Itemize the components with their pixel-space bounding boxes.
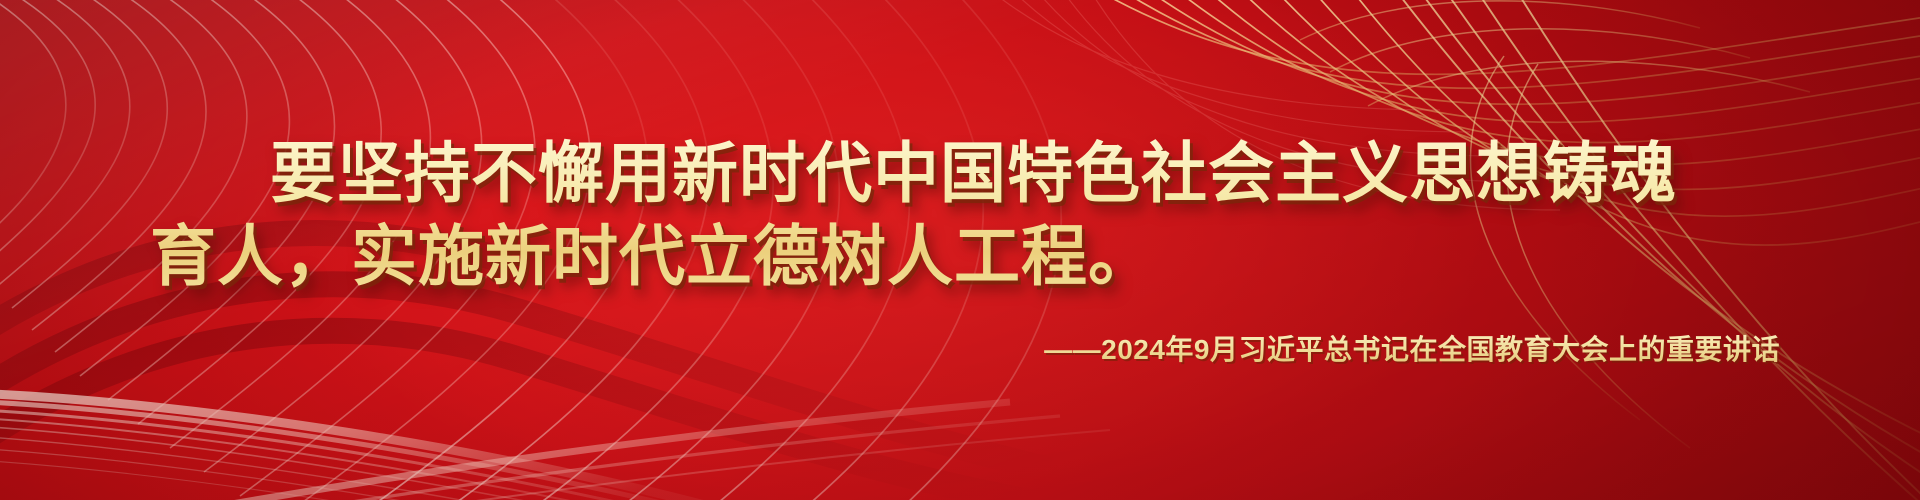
slogan-banner: 要坚持不懈用新时代中国特色社会主义思想铸魂育人，实施新时代立德树人工程。 ——2… bbox=[0, 0, 1920, 500]
slogan-line-1: 要坚持不懈用新时代中国特色社会主义思想铸魂 bbox=[270, 136, 1677, 210]
banner-content: 要坚持不懈用新时代中国特色社会主义思想铸魂育人，实施新时代立德树人工程。 ——2… bbox=[0, 0, 1920, 500]
slogan-line-2: 育人，实施新时代立德树人工程。 bbox=[150, 215, 1830, 298]
slogan-headline: 要坚持不懈用新时代中国特色社会主义思想铸魂育人，实施新时代立德树人工程。 bbox=[0, 132, 1920, 298]
slogan-attribution: ——2024年9月习近平总书记在全国教育大会上的重要讲话 bbox=[0, 328, 1920, 368]
